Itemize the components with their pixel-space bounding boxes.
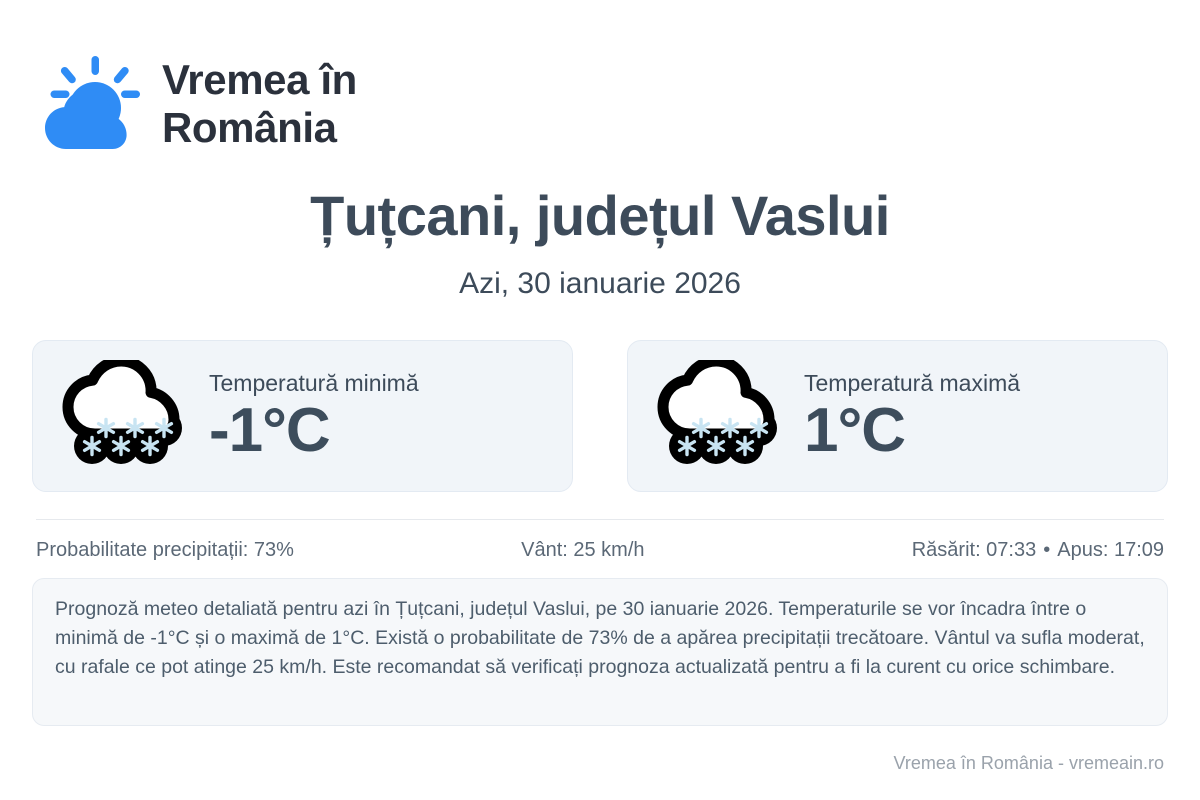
forecast-description-panel: Prognoză meteo detaliată pentru azi în Ț… (32, 578, 1168, 726)
page-title: Țuțcani, județul Vaslui (0, 185, 1200, 248)
stats-divider (36, 519, 1164, 520)
sun-behind-cloud-icon (36, 52, 144, 156)
temperature-cards: Temperatură minimă -1°C (32, 340, 1168, 492)
forecast-description-text: Prognoză meteo detaliată pentru azi în Ț… (55, 595, 1145, 682)
max-temperature-value: 1°C (804, 400, 905, 462)
precipitation-stat: Probabilitate precipitații: 73% (36, 536, 294, 564)
sunset-value: Apus: 17:09 (1057, 539, 1164, 561)
sun-separator: • (1036, 536, 1057, 564)
date-subtitle: Azi, 30 ianuarie 2026 (0, 266, 1200, 302)
footer-attribution: Vremea în România - vremeain.ro (894, 752, 1164, 775)
wind-stat: Vânt: 25 km/h (294, 536, 912, 564)
snow-cloud-icon (59, 360, 187, 472)
sunrise-value: Răsărit: 07:33 (912, 539, 1037, 561)
min-temperature-card: Temperatură minimă -1°C (32, 340, 573, 492)
max-temperature-label: Temperatură maximă (804, 370, 1020, 398)
max-temperature-texts: Temperatură maximă 1°C (798, 370, 1020, 462)
snow-cloud-icon (654, 360, 782, 472)
min-temperature-texts: Temperatură minimă -1°C (203, 370, 419, 462)
brand-header[interactable]: Vremea în România (36, 52, 357, 156)
max-temperature-card: Temperatură maximă 1°C (627, 340, 1168, 492)
min-temperature-label: Temperatură minimă (209, 370, 419, 398)
weather-page: Vremea în România Țuțcani, județul Vaslu… (0, 0, 1200, 800)
min-temperature-value: -1°C (209, 400, 330, 462)
sun-times-stat: Răsărit: 07:33•Apus: 17:09 (912, 536, 1164, 564)
stats-row: Probabilitate precipitații: 73% Vânt: 25… (36, 536, 1164, 564)
brand-name: Vremea în România (162, 56, 357, 152)
